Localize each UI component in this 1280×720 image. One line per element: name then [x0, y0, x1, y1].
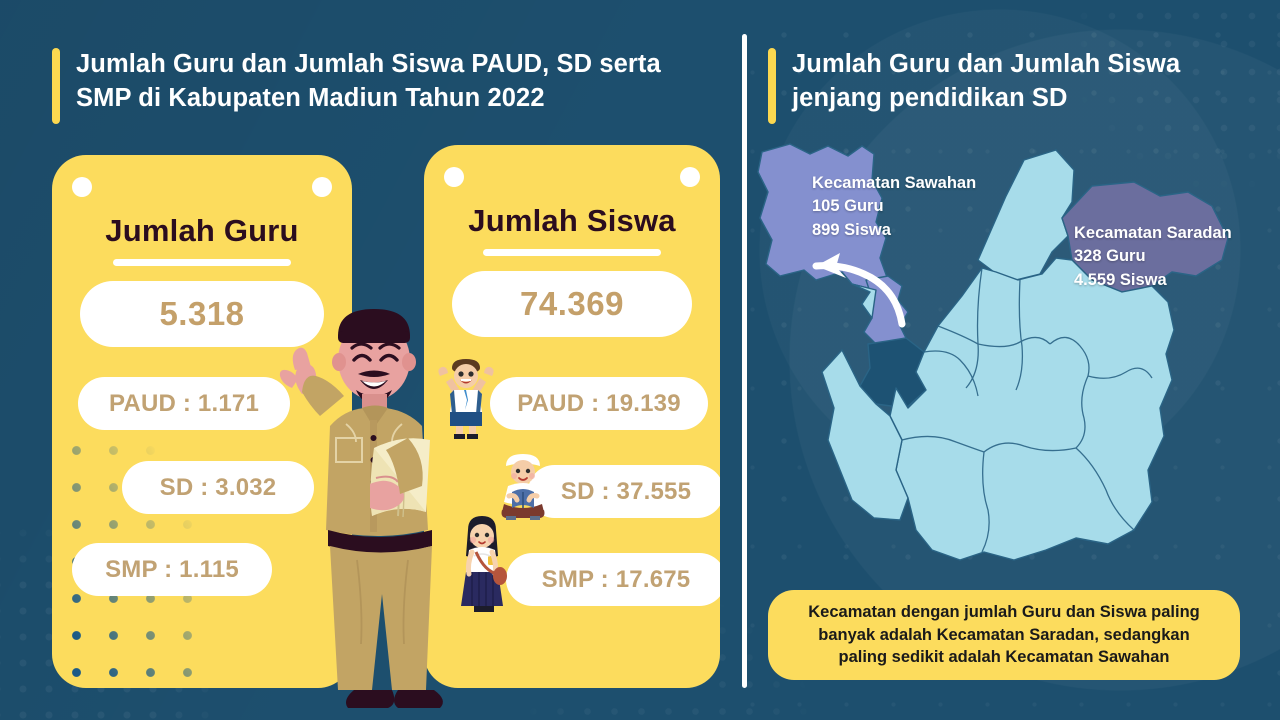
summary-caption-text: Kecamatan dengan jumlah Guru dan Siswa p…: [808, 601, 1200, 669]
right-panel-heading: Jumlah Guru dan Jumlah Siswa jenjang pen…: [768, 48, 1238, 124]
card-title-underline-guru: [113, 259, 291, 266]
card-title-underline-siswa: [483, 249, 661, 256]
breakdown-pill-siswa-smp: SMP : 17.675: [506, 553, 720, 606]
right-heading-text: Jumlah Guru dan Jumlah Siswa jenjang pen…: [792, 48, 1180, 116]
infographic-canvas: Jumlah Guru dan Jumlah Siswa PAUD, SD se…: [0, 0, 1280, 720]
stat-card-jumlah-siswa: Jumlah Siswa 74.369 PAUD : 19.139 SD : 3…: [424, 145, 720, 688]
map-label-sawahan: Kecamatan Sawahan 105 Guru 899 Siswa: [812, 172, 976, 242]
left-heading-text: Jumlah Guru dan Jumlah Siswa PAUD, SD se…: [76, 48, 661, 116]
accent-bar-left: [52, 48, 60, 124]
summary-caption-box: Kecamatan dengan jumlah Guru dan Siswa p…: [768, 590, 1240, 680]
breakdown-pill-guru-paud: PAUD : 1.171: [78, 377, 290, 430]
map-region-main-body: [890, 258, 1174, 560]
map-label-saradan: Kecamatan Saradan 328 Guru 4.559 Siswa: [1074, 222, 1232, 292]
card-punch-hole-left-icon: [444, 167, 464, 187]
card-punch-hole-left-icon: [72, 177, 92, 197]
accent-bar-right: [768, 48, 776, 124]
breakdown-pill-siswa-sd: SD : 37.555: [528, 465, 720, 518]
breakdown-pill-guru-smp: SMP : 1.115: [72, 543, 272, 596]
vertical-divider: [742, 34, 747, 688]
card-punch-hole-right-icon: [312, 177, 332, 197]
card-title-siswa: Jumlah Siswa: [424, 203, 720, 239]
breakdown-pill-guru-sd: SD : 3.032: [122, 461, 314, 514]
card-title-guru: Jumlah Guru: [52, 213, 352, 249]
total-value-siswa: 74.369: [452, 271, 692, 337]
breakdown-pill-siswa-paud: PAUD : 19.139: [490, 377, 708, 430]
card-punch-hole-right-icon: [680, 167, 700, 187]
left-panel-heading: Jumlah Guru dan Jumlah Siswa PAUD, SD se…: [52, 48, 712, 124]
stat-card-jumlah-guru: Jumlah Guru 5.318 PAUD : 1.171 SD : 3.03…: [52, 155, 352, 688]
total-value-guru: 5.318: [80, 281, 324, 347]
